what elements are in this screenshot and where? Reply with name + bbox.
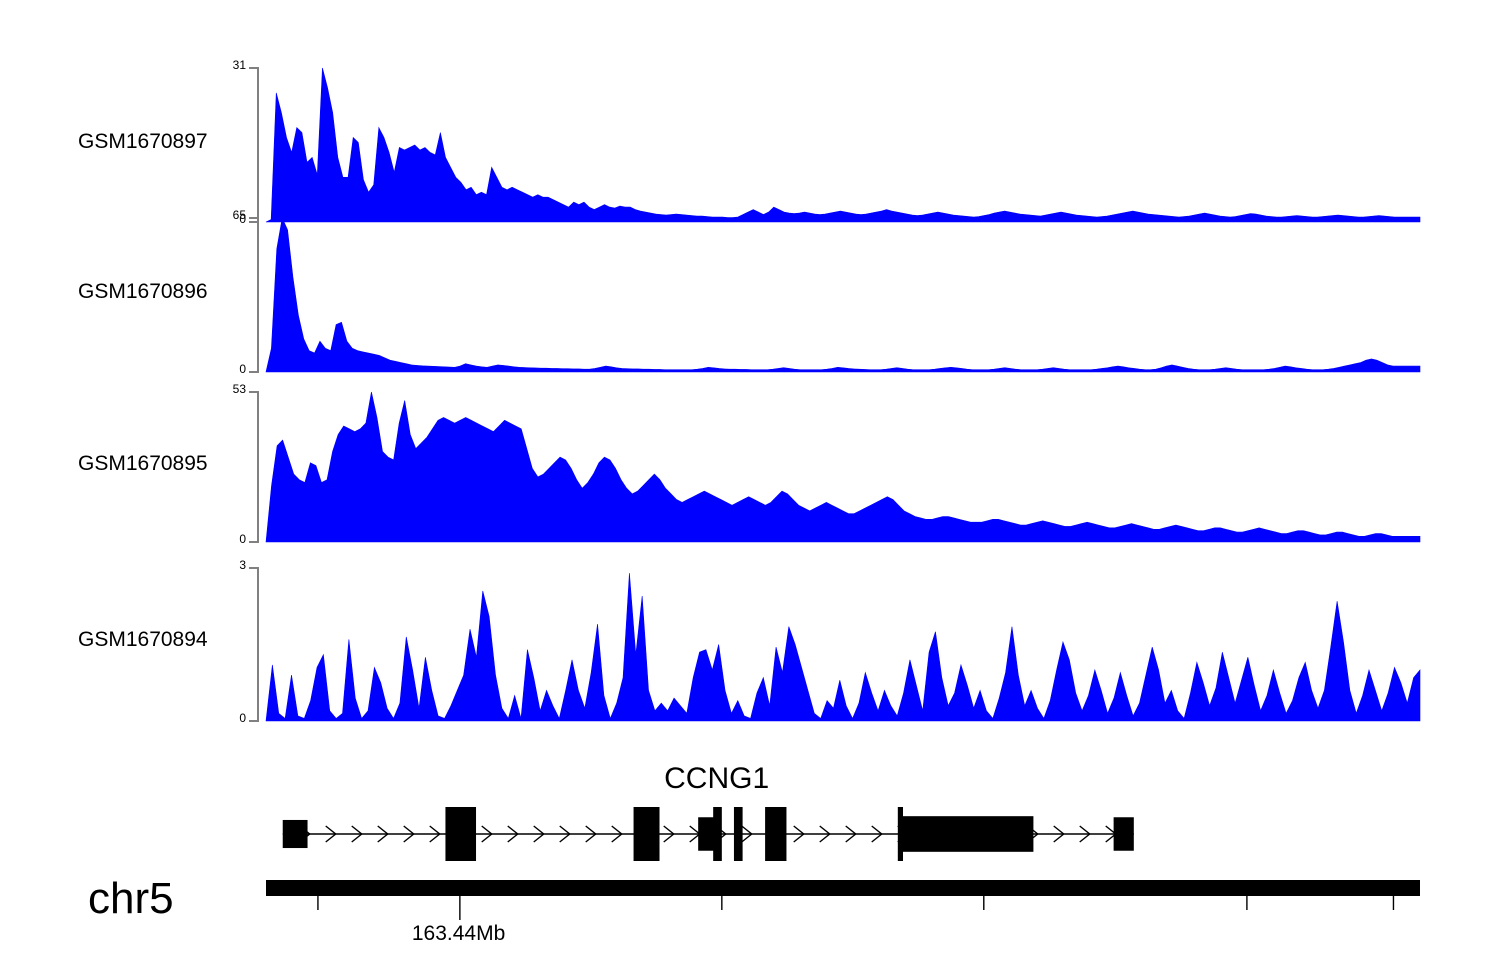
exon-block: [900, 816, 1033, 852]
coordinate-label: 163.44Mb: [412, 922, 505, 946]
coverage-track-0: GSM1670897 31 0: [0, 30, 1500, 200]
coverage-track-1: GSM1670896 65 0: [0, 204, 1500, 374]
exon-block: [734, 807, 743, 861]
y-axis: [249, 68, 258, 222]
coverage-area: [266, 573, 1420, 721]
coverage-area: [266, 68, 1420, 222]
genome-browser: GSM1670897 31 0 GSM1670896 65 0 GSM16708…: [0, 0, 1500, 980]
coverage-track-2: GSM1670895 53 0: [0, 380, 1500, 545]
exon-block: [634, 807, 660, 861]
exon-block: [283, 820, 308, 848]
exon-block: [445, 807, 476, 861]
y-axis: [249, 568, 258, 721]
exon-block: [765, 807, 786, 861]
coverage-plot: [0, 380, 1500, 555]
chromosome-ruler: chr5 163.44Mb: [0, 872, 1500, 980]
coverage-area: [266, 218, 1420, 372]
exon-block: [713, 807, 722, 861]
gene-annotation-track: CCNG1: [0, 762, 1500, 872]
y-axis: [249, 392, 258, 542]
coverage-plot: [0, 204, 1500, 384]
coverage-track-3: GSM1670894 3 0: [0, 556, 1500, 724]
ruler-axis: [0, 872, 1500, 942]
gene-model: [0, 762, 1500, 872]
coverage-area: [266, 392, 1420, 542]
exon-block: [1114, 817, 1134, 850]
y-axis: [249, 218, 258, 372]
chromosome-bar: [266, 880, 1420, 896]
coverage-plot: [0, 556, 1500, 734]
coverage-plot: [0, 30, 1500, 230]
